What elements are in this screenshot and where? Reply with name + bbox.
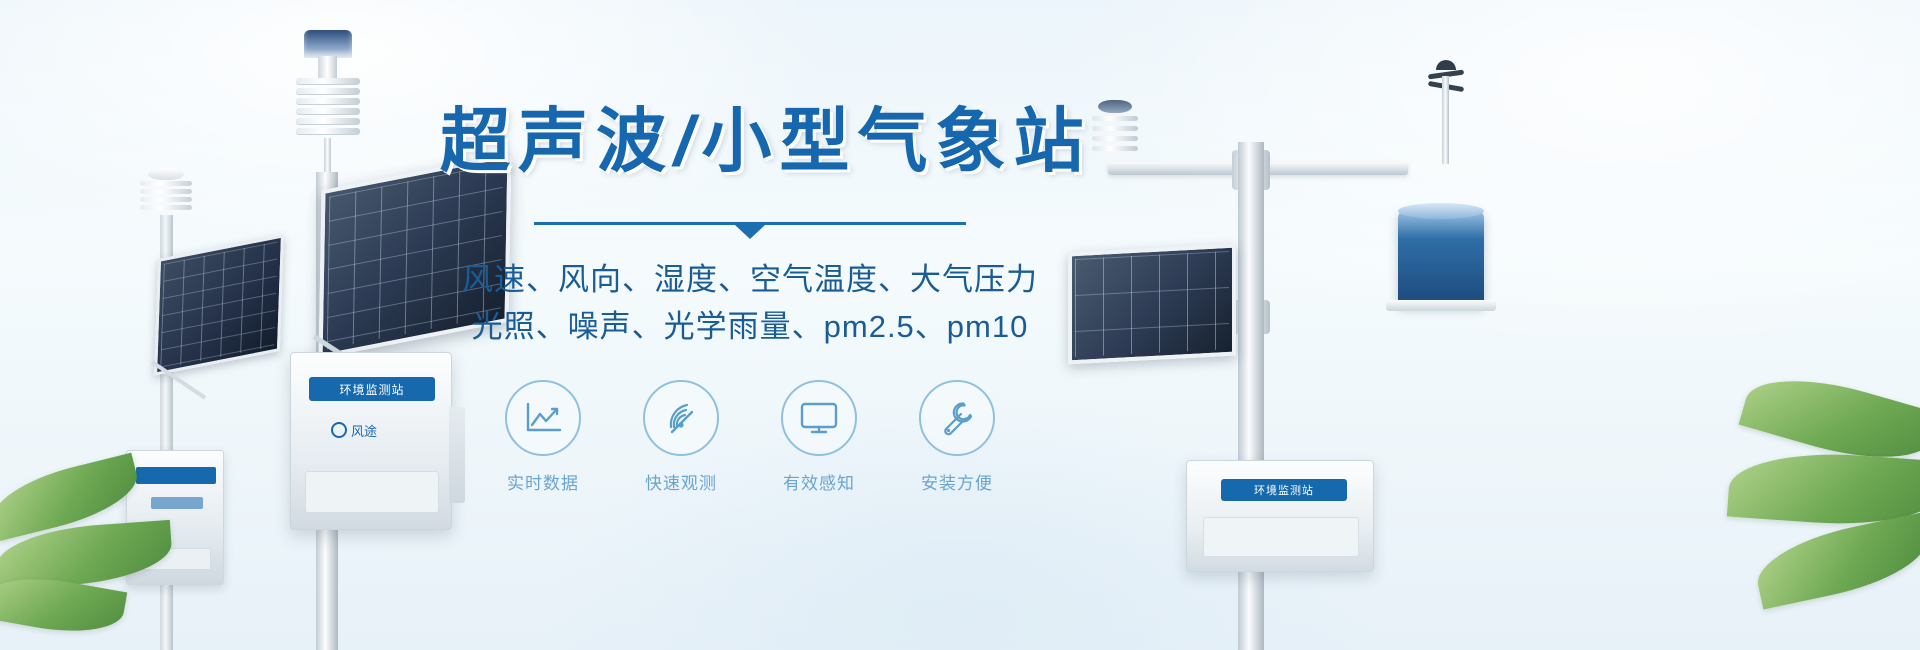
brand-logo: 风途 xyxy=(331,421,415,439)
ultrasonic-sensor-icon xyxy=(1092,108,1138,164)
feature-icon-circle xyxy=(505,380,581,456)
instrument-shelf xyxy=(1386,300,1496,311)
solar-panel xyxy=(154,234,284,376)
leaf-decoration-right xyxy=(1634,358,1920,650)
banner-text-block: 超声波/小型气象站 风速、风向、湿度、空气温度、大气压力 光照、噪声、光学雨量、… xyxy=(440,104,1060,494)
subtitle-line-2: 光照、噪声、光学雨量、pm2.5、pm10 xyxy=(440,303,1060,350)
sensor-neck xyxy=(318,56,337,80)
enclosure-door xyxy=(141,548,211,570)
title-part-before: 超声波 xyxy=(440,102,674,180)
enclosure-label-plate xyxy=(136,467,216,484)
feature-list: 实时数据 快速观测 xyxy=(440,380,1060,494)
radiation-shield-sensor-icon xyxy=(140,175,192,217)
brand-logo-mark xyxy=(331,422,347,438)
wind-vane-icon xyxy=(1422,60,1468,164)
title-divider xyxy=(534,222,966,236)
controller-enclosure: 环境监测站 xyxy=(1186,460,1374,572)
subtitle-block: 风速、风向、湿度、空气温度、大气压力 光照、噪声、光学雨量、pm2.5、pm10 xyxy=(440,256,1060,350)
feature-icon-circle xyxy=(643,380,719,456)
brand-logo-text: 风途 xyxy=(351,421,377,440)
feature-label: 有效感知 xyxy=(771,469,867,494)
feature-icon-circle xyxy=(781,380,857,456)
signal-wave-icon xyxy=(661,399,701,437)
subtitle-line-1: 风速、风向、湿度、空气温度、大气压力 xyxy=(440,256,1060,303)
enclosure-door xyxy=(305,471,439,513)
feature-icon-circle xyxy=(919,380,995,456)
rain-gauge-icon xyxy=(1398,210,1484,306)
solar-panel xyxy=(1068,244,1236,365)
total-radiation-sensor-icon xyxy=(304,30,352,58)
title-part-after: 小型气象站 xyxy=(701,102,1091,180)
feature-item-realtime-data[interactable]: 实时数据 xyxy=(495,380,591,494)
enclosure-door xyxy=(1203,517,1359,557)
controller-enclosure xyxy=(126,450,224,585)
enclosure-label-plate: 环境监测站 xyxy=(309,377,435,401)
product-banner: 环境监测站 风途 环境监测站 xyxy=(0,0,1920,650)
controller-enclosure: 环境监测站 风途 xyxy=(290,352,452,530)
feature-label: 快速观测 xyxy=(633,469,729,494)
radiation-shield-stack-icon xyxy=(296,78,360,140)
title-slash: / xyxy=(674,102,701,180)
station-mast xyxy=(1238,142,1264,650)
monitor-icon xyxy=(798,400,840,436)
line-chart-icon xyxy=(523,401,563,435)
wrench-icon xyxy=(937,398,977,438)
divider-triangle-icon xyxy=(735,225,765,239)
feature-item-easy-installation[interactable]: 安装方便 xyxy=(909,380,1005,494)
feature-label: 安装方便 xyxy=(909,469,1005,494)
feature-item-effective-sensing[interactable]: 有效感知 xyxy=(771,380,867,494)
enclosure-label-plate: 环境监测站 xyxy=(1221,479,1347,501)
feature-label: 实时数据 xyxy=(495,469,591,494)
brand-logo-mark xyxy=(151,497,203,509)
weather-station-right: 环境监测站 xyxy=(1060,50,1500,650)
feature-item-fast-observation[interactable]: 快速观测 xyxy=(633,380,729,494)
page-title: 超声波/小型气象站 xyxy=(440,104,1060,180)
